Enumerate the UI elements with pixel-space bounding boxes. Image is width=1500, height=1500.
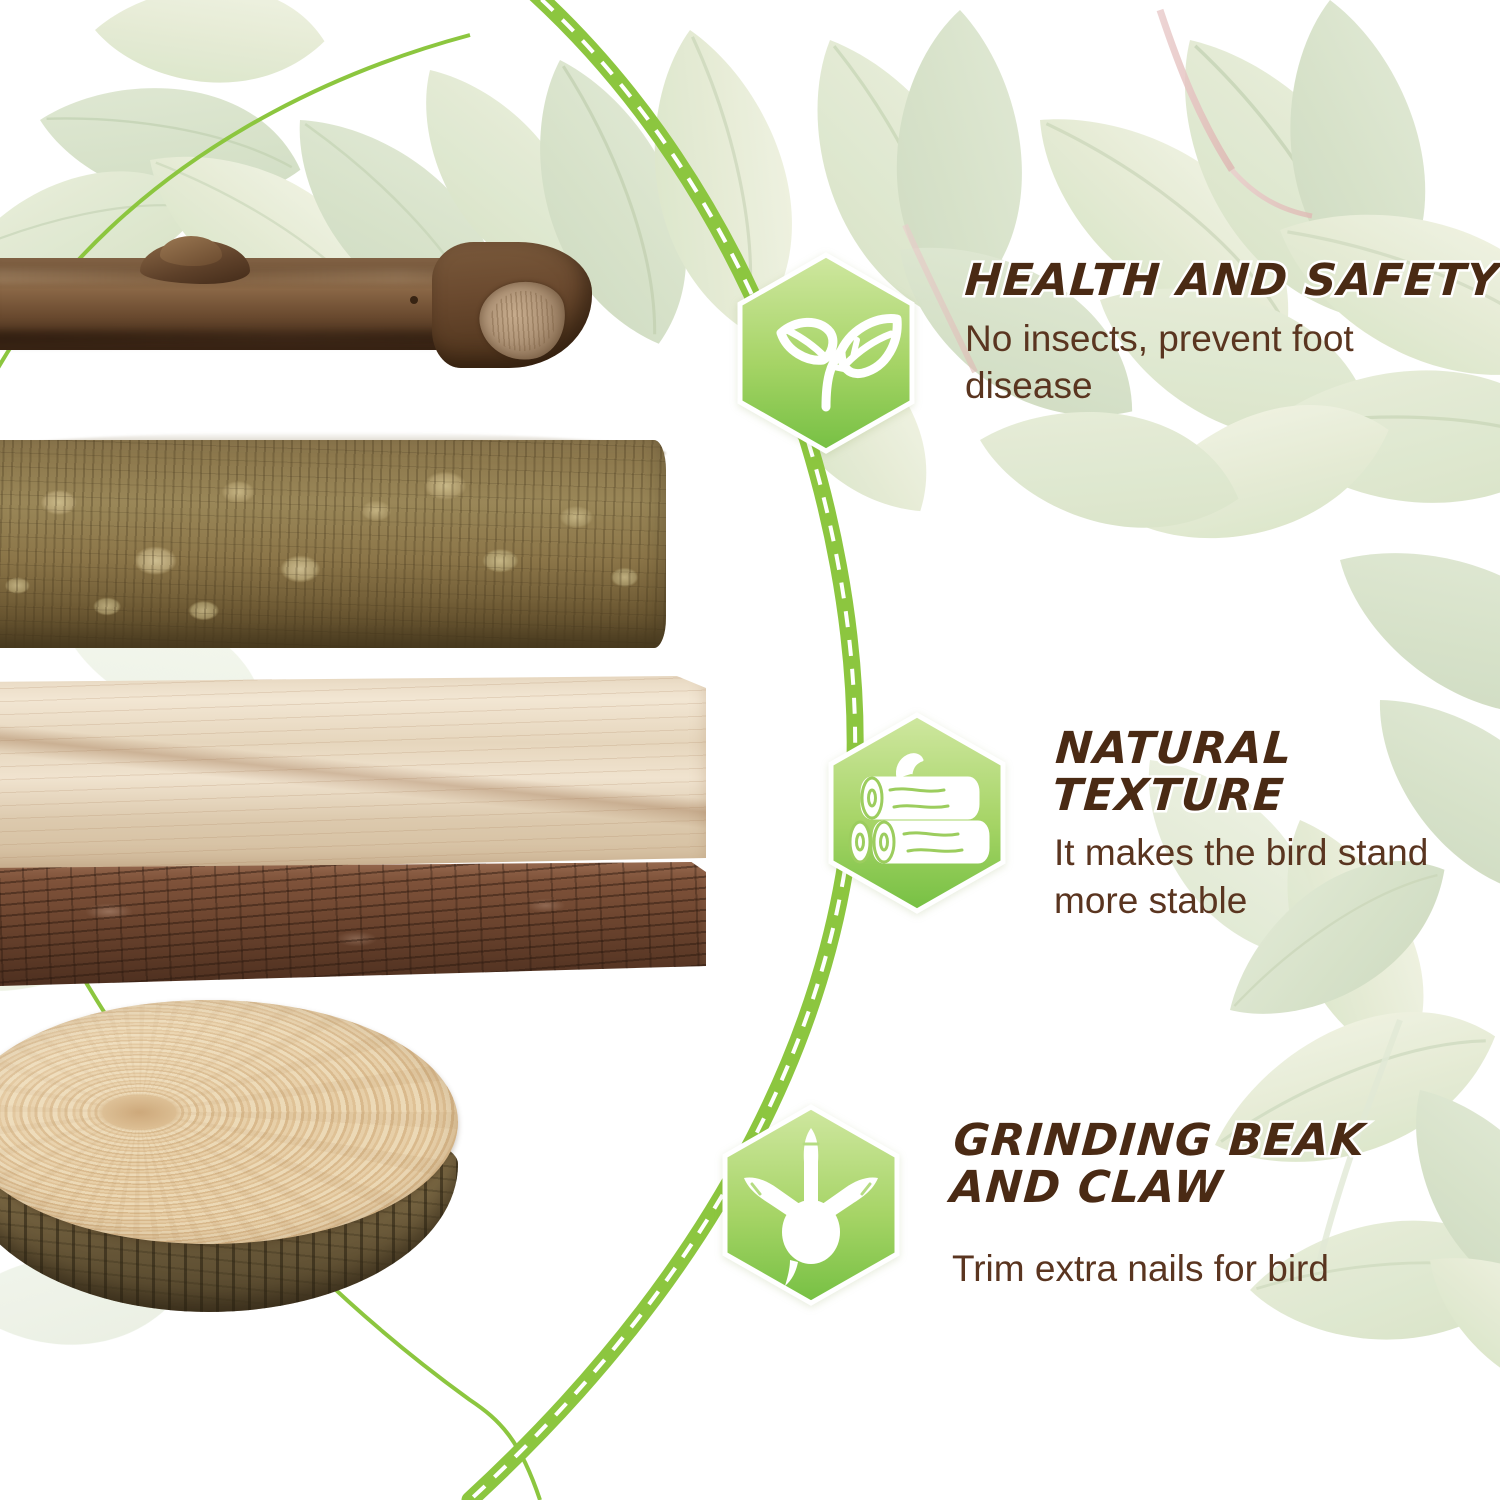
feature-description-health: No insects, prevent foot disease (965, 315, 1465, 410)
feature-description-claw: Trim extra nails for bird (952, 1245, 1364, 1292)
feature-title-texture: NATURAL TEXTURE (1051, 726, 1500, 819)
feature-list: HEALTH AND SAFETY No insects, prevent fo… (0, 0, 1500, 1500)
feature-grinding-beak-and-claw: GRINDING BEAK AND CLAW Trim extra nails … (722, 1104, 1364, 1306)
feature-icon-badge-claw (722, 1104, 900, 1306)
feature-health-and-safety: HEALTH AND SAFETY No insects, prevent fo… (737, 252, 1500, 454)
feature-icon-badge-health (737, 252, 915, 454)
feature-title-health: HEALTH AND SAFETY (963, 258, 1500, 305)
feature-text-texture: NATURAL TEXTURE It makes the bird stand … (1054, 726, 1500, 924)
feature-text-claw: GRINDING BEAK AND CLAW Trim extra nails … (952, 1118, 1364, 1293)
feature-text-health: HEALTH AND SAFETY No insects, prevent fo… (965, 258, 1500, 409)
feature-natural-texture: NATURAL TEXTURE It makes the bird stand … (828, 712, 1500, 924)
feature-title-claw: GRINDING BEAK AND CLAW (949, 1118, 1367, 1211)
infographic-canvas: HEALTH AND SAFETY No insects, prevent fo… (0, 0, 1500, 1500)
feature-icon-badge-texture (828, 712, 1006, 914)
feature-description-texture: It makes the bird stand more stable (1054, 829, 1500, 924)
